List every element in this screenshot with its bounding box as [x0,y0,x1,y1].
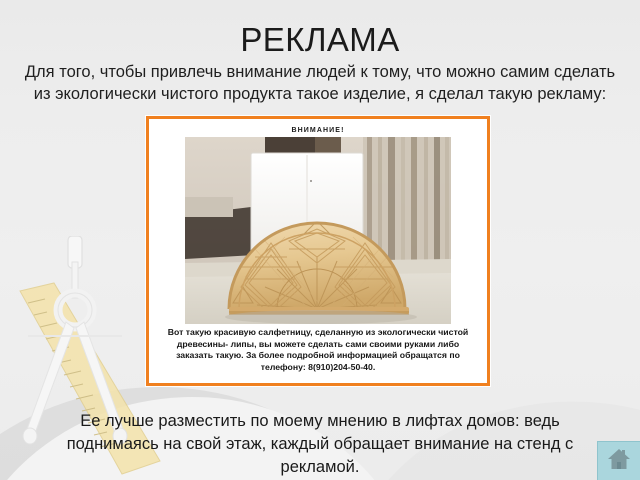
bottom-line-1: Ее лучше разместить по моему мнению в ли… [40,410,600,433]
advert-caption-line-1: Вот такую красивую салфетницу, сделанную… [155,327,481,339]
advertisement-frame: ВНИМАНИЕ! [146,116,490,386]
home-button[interactable] [597,441,640,480]
slide-subtitle: Для того, чтобы привлечь внимание людей … [10,62,630,105]
slide-title: РЕКЛАМА [0,20,640,60]
advert-caption-line-2: древесины- липы, вы можете сделать сами … [155,339,481,351]
slide-bottom-text: Ее лучше разместить по моему мнению в ли… [40,410,600,479]
slide-canvas: РЕКЛАМА Для того, чтобы привлечь внимани… [0,0,640,480]
home-icon [607,448,631,475]
subtitle-line-1: Для того, чтобы привлечь внимание людей … [10,62,630,84]
subtitle-line-2: из экологически чистого продукта такое и… [10,84,630,106]
napkin-holder-photo [185,137,451,324]
advert-caption-line-3: заказать такую. За более подробной инфор… [155,350,481,362]
advert-caption-phone: телефону: 8(910)204-50-40. [155,362,481,374]
advert-heading: ВНИМАНИЕ! [149,127,487,134]
bottom-line-3: рекламой. [40,456,600,479]
advert-caption: Вот такую красивую салфетницу, сделанную… [155,327,481,373]
bottom-line-2: поднимаясь на свой этаж, каждый обращает… [40,433,600,456]
